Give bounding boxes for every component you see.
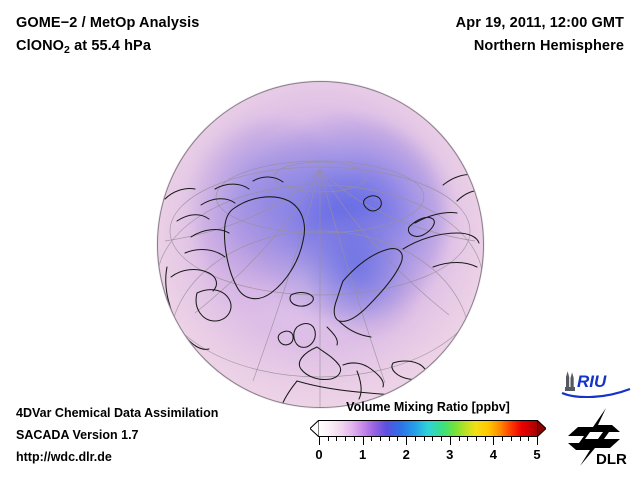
colorbar-row <box>310 420 546 437</box>
riu-wordmark: RIU <box>577 372 607 391</box>
colorbar-gradient <box>319 420 537 437</box>
riu-logo: RIU <box>560 368 632 398</box>
colorbar-minor-tick <box>328 437 329 441</box>
timestamp-label: Apr 19, 2011, 12:00 GMT <box>456 12 624 35</box>
colorbar-major-tick <box>406 437 407 445</box>
colorbar-major-tick <box>363 437 364 445</box>
colorbar-minor-tick <box>511 437 512 441</box>
colorbar-minor-tick <box>397 437 398 441</box>
footer-left: 4DVar Chemical Data Assimilation SACADA … <box>16 402 218 468</box>
colorbar-title: Volume Mixing Ratio [ppbv] <box>310 400 546 414</box>
dlr-logo: DLR <box>566 406 634 468</box>
colorbar-tick-label: 0 <box>315 447 322 462</box>
colorbar-tick-label: 2 <box>403 447 410 462</box>
colorbar-minor-tick <box>520 437 521 441</box>
header-left: GOME−2 / MetOp Analysis ClONO2 at 55.4 h… <box>16 12 199 59</box>
colorbar-max-arrow <box>537 420 546 437</box>
pressure-level-label: at 55.4 hPa <box>70 38 151 54</box>
colorbar-major-tick <box>450 437 451 445</box>
colorbar-tick-labels: 012345 <box>310 447 546 465</box>
species-label: ClONO <box>16 38 64 54</box>
colorbar-min-arrow <box>310 420 319 437</box>
colorbar-tick-label: 1 <box>359 447 366 462</box>
colorbar-minor-tick <box>415 437 416 441</box>
analysis-title: GOME−2 / MetOp Analysis <box>16 12 199 35</box>
dlr-wordmark: DLR <box>596 451 627 468</box>
colorbar-minor-tick <box>441 437 442 441</box>
version-label: SACADA Version 1.7 <box>16 424 218 446</box>
colorbar-tick-label: 5 <box>533 447 540 462</box>
hemisphere-label: Northern Hemisphere <box>456 35 624 58</box>
colorbar-minor-tick <box>528 437 529 441</box>
colorbar: Volume Mixing Ratio [ppbv] 012345 <box>310 400 546 465</box>
method-label: 4DVar Chemical Data Assimilation <box>16 402 218 424</box>
colorbar-minor-tick <box>467 437 468 441</box>
riu-cathedral-icon <box>565 371 575 391</box>
website-url[interactable]: http://wdc.dlr.de <box>16 446 218 468</box>
colorbar-minor-tick <box>459 437 460 441</box>
globe-outline <box>157 81 484 408</box>
colorbar-ticks <box>310 437 546 446</box>
colorbar-minor-tick <box>476 437 477 441</box>
colorbar-minor-tick <box>432 437 433 441</box>
colorbar-minor-tick <box>424 437 425 441</box>
colorbar-minor-tick <box>389 437 390 441</box>
colorbar-minor-tick <box>380 437 381 441</box>
colorbar-minor-tick <box>336 437 337 441</box>
species-level-title: ClONO2 at 55.4 hPa <box>16 35 199 59</box>
colorbar-minor-tick <box>345 437 346 441</box>
species-subscript: 2 <box>64 44 70 56</box>
colorbar-major-tick <box>319 437 320 445</box>
colorbar-minor-tick <box>485 437 486 441</box>
colorbar-minor-tick <box>371 437 372 441</box>
colorbar-major-tick <box>537 437 538 445</box>
colorbar-tick-label: 4 <box>490 447 497 462</box>
colorbar-minor-tick <box>354 437 355 441</box>
colorbar-major-tick <box>493 437 494 445</box>
colorbar-tick-label: 3 <box>446 447 453 462</box>
colorbar-minor-tick <box>502 437 503 441</box>
header-right: Apr 19, 2011, 12:00 GMT Northern Hemisph… <box>456 12 624 58</box>
globe-plot <box>157 81 484 408</box>
